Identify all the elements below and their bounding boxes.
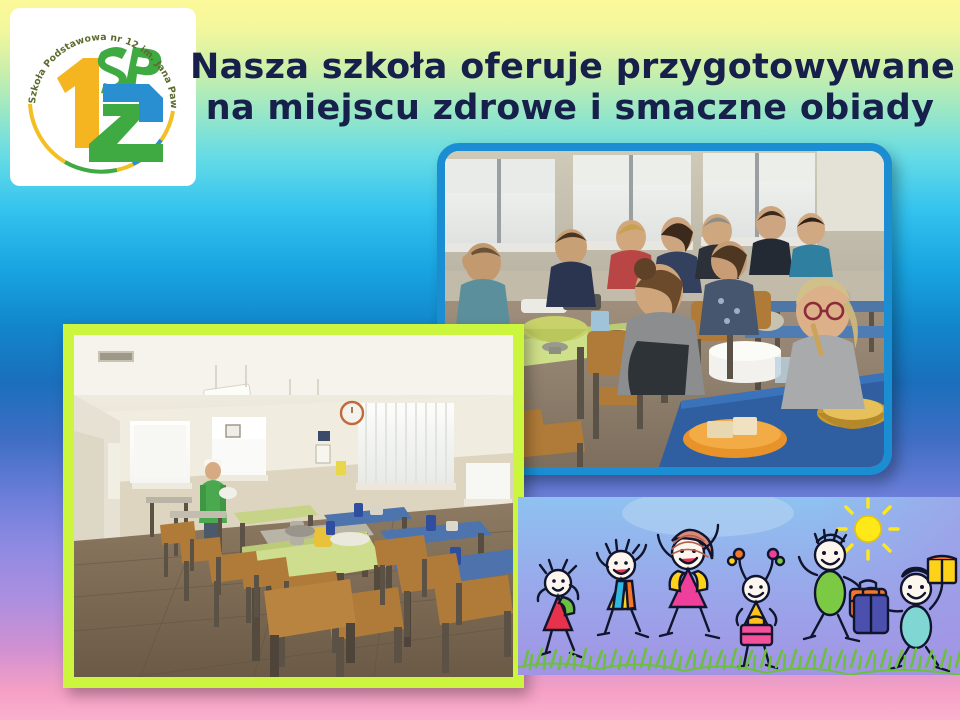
slide-canvas: Szkoła Podstawowa nr 12 im. Jana Pawła I… xyxy=(0,0,960,720)
title-line-1: Nasza szkoła oferuje przygotowywane xyxy=(190,47,950,88)
title-line-2: na miejscu zdrowe i smaczne obiady xyxy=(190,88,950,129)
page-title: Nasza szkoła oferuje przygotowywane na m… xyxy=(190,47,950,129)
photo-empty-dining-hall xyxy=(63,324,524,688)
sun-icon xyxy=(838,499,898,559)
clipart-happy-school-children xyxy=(518,497,960,675)
logo-emblem: Szkoła Podstawowa nr 12 im. Jana Pawła I… xyxy=(21,16,185,180)
photo-hall-scene xyxy=(74,335,513,677)
school-logo: Szkoła Podstawowa nr 12 im. Jana Pawła I… xyxy=(10,8,196,186)
